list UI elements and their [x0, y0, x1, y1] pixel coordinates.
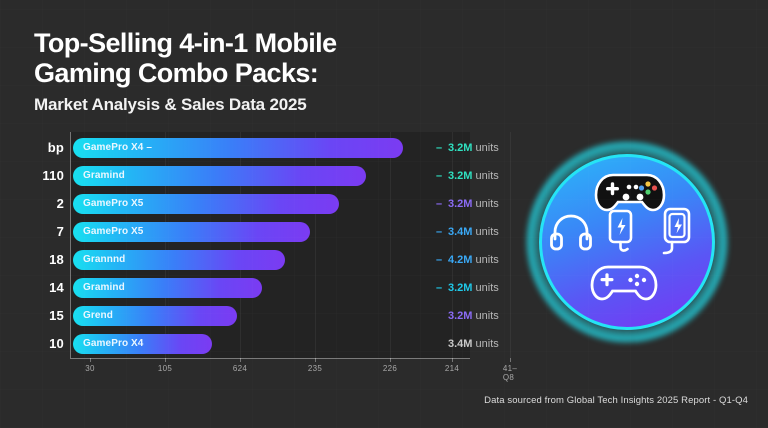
bar-chart: bpGamePro X4 ––3.2M units110Gramind–3.2M…: [28, 132, 488, 380]
chart-bar[interactable]: GamePro X4: [73, 334, 212, 354]
chart-row-category-label: 15: [28, 302, 64, 330]
chart-row: 2GamePro X5–3.2M units: [28, 190, 488, 218]
chart-value-dash: –: [436, 162, 442, 190]
chart-x-tick-mark: [452, 358, 453, 362]
chart-row-category-label: 2: [28, 190, 64, 218]
chart-value-label: 3.2M units: [448, 302, 499, 330]
chart-bar[interactable]: Gramind: [73, 278, 262, 298]
header: Top-Selling 4-in-1 Mobile Gaming Combo P…: [34, 28, 454, 115]
chart-bar-product-label: GamePro X5: [83, 222, 143, 242]
chart-value-dash: –: [436, 274, 442, 302]
chart-row: 15Grend3.2M units: [28, 302, 488, 330]
chart-value-number: 3.2M: [448, 198, 472, 210]
chart-row-category-label: 10: [28, 330, 64, 358]
chart-bar-product-label: GamePro X5: [83, 194, 143, 214]
product-illustration: [515, 130, 740, 355]
chart-value-label: 3.2M units: [448, 162, 499, 190]
chart-value-unit: units: [472, 170, 498, 182]
chart-bar[interactable]: Gramind: [73, 166, 366, 186]
chart-x-axis: [70, 358, 470, 359]
chart-value-number: 4.2M: [448, 254, 472, 266]
chart-value-label: 3.2M units: [448, 274, 499, 302]
chart-row-category-label: 18: [28, 246, 64, 274]
chart-value-dash: –: [436, 218, 442, 246]
chart-x-tick-label: 41–Q8: [503, 364, 517, 382]
chart-value-unit: units: [472, 226, 498, 238]
chart-value-number: 3.2M: [448, 310, 472, 322]
chart-row-category-label: 110: [28, 162, 64, 190]
chart-x-tick-label: 226: [383, 364, 397, 373]
chart-row: bpGamePro X4 ––3.2M units: [28, 134, 488, 162]
chart-bar[interactable]: Grannnd: [73, 250, 285, 270]
chart-value-number: 3.2M: [448, 282, 472, 294]
chart-x-tick-mark: [90, 358, 91, 362]
chart-value-dash: –: [436, 246, 442, 274]
chart-x-tick-label: 30: [85, 364, 95, 373]
chart-value-number: 3.4M: [448, 226, 472, 238]
chart-row: 10GamePro X43.4M units: [28, 330, 488, 358]
chart-value-dash: –: [436, 190, 442, 218]
chart-x-tick-mark: [510, 358, 511, 362]
gamepad-filled-icon: [593, 171, 667, 213]
chart-value-number: 3.4M: [448, 338, 472, 350]
chart-bar-product-label: GamePro X4: [83, 334, 143, 354]
chart-x-tick-mark: [390, 358, 391, 362]
chart-x-tick-label: 624: [233, 364, 247, 373]
chart-x-tick-label: 214: [445, 364, 459, 373]
page-title-line2: Gaming Combo Packs:: [34, 58, 454, 88]
circle-disc: [539, 154, 715, 330]
chart-bar-product-label: GamePro X4 –: [83, 138, 152, 158]
page-subtitle: Market Analysis & Sales Data 2025: [34, 95, 454, 115]
chart-x-tick-label: 105: [158, 364, 172, 373]
chart-value-dash: –: [436, 134, 442, 162]
chart-row-category-label: 7: [28, 218, 64, 246]
chart-value-number: 3.2M: [448, 142, 472, 154]
chart-x-tick-mark: [240, 358, 241, 362]
chart-bar[interactable]: Grend: [73, 306, 237, 326]
chart-value-label: 3.2M units: [448, 134, 499, 162]
chart-value-unit: units: [472, 142, 498, 154]
chart-value-unit: units: [472, 198, 498, 210]
chart-bar-product-label: Gramind: [83, 166, 125, 186]
chart-x-tick-mark: [165, 358, 166, 362]
chart-value-label: 4.2M units: [448, 246, 499, 274]
gamepad-outline-icon: [589, 262, 659, 304]
chart-row-category-label: bp: [28, 134, 64, 162]
chart-value-number: 3.2M: [448, 170, 472, 182]
chart-x-tick-label: 235: [308, 364, 322, 373]
data-source-note: Data sourced from Global Tech Insights 2…: [484, 395, 748, 406]
chart-row-category-label: 14: [28, 274, 64, 302]
chart-bar[interactable]: GamePro X5: [73, 222, 310, 242]
headphones-icon: [550, 213, 592, 251]
page-title-line1: Top-Selling 4-in-1 Mobile: [34, 28, 454, 58]
chart-row: 7GamePro X5–3.4M units: [28, 218, 488, 246]
power-bank-icon: [659, 207, 699, 257]
chart-row: 14Gramind–3.2M units: [28, 274, 488, 302]
chart-value-label: 3.4M units: [448, 218, 499, 246]
chart-value-unit: units: [472, 338, 498, 350]
chart-gridline: [510, 132, 511, 358]
chart-value-label: 3.2M units: [448, 190, 499, 218]
chart-row: 18Grannnd–4.2M units: [28, 246, 488, 274]
chart-bar-product-label: Gramind: [83, 278, 125, 298]
chart-value-unit: units: [472, 282, 498, 294]
chart-value-unit: units: [472, 310, 498, 322]
chart-value-unit: units: [472, 254, 498, 266]
chart-x-tick-mark: [315, 358, 316, 362]
chart-row: 110Gramind–3.2M units: [28, 162, 488, 190]
chart-bar[interactable]: GamePro X5: [73, 194, 339, 214]
chart-bar[interactable]: GamePro X4 –: [73, 138, 403, 158]
phone-charging-icon: [605, 209, 641, 255]
chart-bar-product-label: Grannnd: [83, 250, 125, 270]
chart-bar-product-label: Grend: [83, 306, 113, 326]
chart-value-label: 3.4M units: [448, 330, 499, 358]
